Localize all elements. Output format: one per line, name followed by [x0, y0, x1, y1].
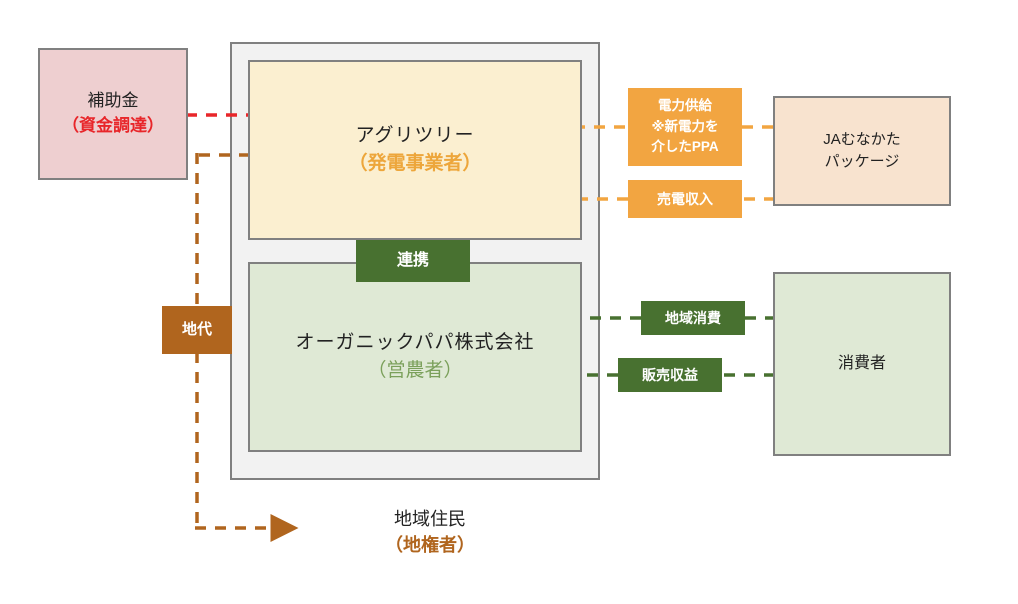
node-power-producer-line2: （発電事業者） [348, 150, 481, 178]
node-power-producer[interactable]: アグリツリー （発電事業者） [248, 60, 582, 240]
tag-power-supply-line3: 介したPPA [651, 137, 718, 158]
tag-cooperation-label: 連携 [397, 249, 429, 272]
tag-power-revenue[interactable]: 売電収入 [628, 180, 742, 218]
node-residents: 地域住民 （地権者） [330, 500, 530, 564]
tag-sales-revenue-label: 販売収益 [642, 365, 698, 385]
tag-land-rent[interactable]: 地代 [162, 306, 232, 354]
node-ja-package-line1: JAむなかた [823, 129, 901, 151]
node-farmer-line2: （営農者） [367, 357, 462, 385]
node-consumer[interactable]: 消費者 [773, 272, 951, 456]
tag-power-supply-line2: ※新電力を [651, 117, 718, 138]
node-residents-line1: 地域住民 [394, 506, 466, 532]
node-ja-package[interactable]: JAむなかた パッケージ [773, 96, 951, 206]
node-farmer-line1: オーガニックパパ株式会社 [295, 329, 534, 357]
tag-power-revenue-label: 売電収入 [657, 189, 713, 209]
tag-power-supply-line1: 電力供給 [658, 96, 712, 117]
node-subsidy-line2: （資金調達） [62, 114, 164, 139]
tag-local-consumption-label: 地域消費 [665, 308, 721, 328]
node-residents-line2: （地権者） [385, 532, 475, 558]
tag-cooperation[interactable]: 連携 [356, 240, 470, 282]
tag-local-consumption[interactable]: 地域消費 [641, 301, 745, 335]
node-subsidy[interactable]: 補助金 （資金調達） [38, 48, 188, 180]
tag-land-rent-label: 地代 [182, 319, 212, 341]
node-consumer-label: 消費者 [838, 352, 886, 375]
node-power-producer-line1: アグリツリー [355, 122, 474, 150]
diagram-canvas: 補助金 （資金調達） アグリツリー （発電事業者） オーガニックパパ株式会社 （… [0, 0, 1018, 604]
node-farmer[interactable]: オーガニックパパ株式会社 （営農者） [248, 262, 582, 452]
tag-power-supply[interactable]: 電力供給 ※新電力を 介したPPA [628, 88, 742, 166]
node-ja-package-line2: パッケージ [825, 151, 900, 173]
node-subsidy-line1: 補助金 [88, 89, 139, 114]
tag-sales-revenue[interactable]: 販売収益 [618, 358, 722, 392]
